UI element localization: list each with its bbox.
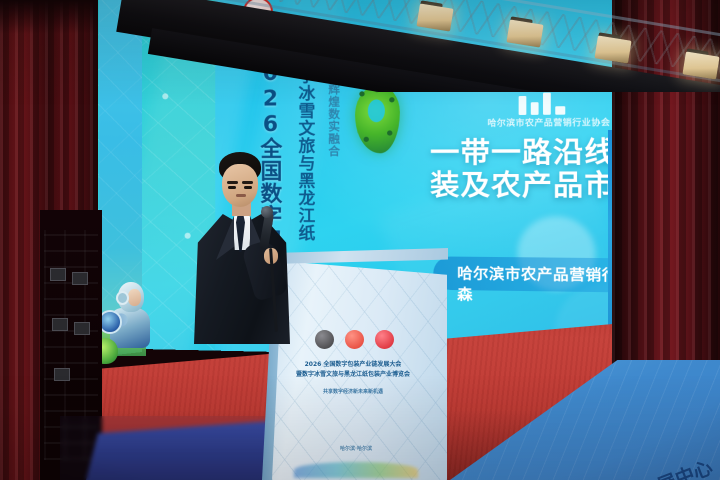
podium-headline-line2: 暨数字冰雪文旅与黑龙江纸包装产业博览会	[288, 370, 418, 380]
microphone-head-icon	[261, 206, 273, 218]
overhead-truss-rig	[0, 0, 720, 92]
podium-small-tag: 哈尔滨·哈尔滨	[302, 445, 410, 452]
podium-logo-row	[298, 328, 410, 350]
robot-illustration-icon	[100, 282, 162, 360]
green-gear-graphic-icon	[355, 85, 400, 154]
podium-footline: 共享数字经济新未来新机遇	[288, 388, 418, 395]
podium-headline-line1: 2026 全国数字包装产业链发展大会	[288, 360, 418, 370]
stage-photo: 2026全国数字包装产业 暨数字冰雪文旅与黑龙江纸 辉煌数实融合 哈尔滨市农产品…	[0, 0, 720, 480]
association-logo-icon	[519, 91, 568, 115]
led-org-caption: 哈尔滨市农产品营销行业协会	[477, 116, 622, 129]
stage-light-2-icon	[506, 19, 543, 47]
person-mouth	[236, 194, 246, 197]
stage-light-1-icon	[416, 3, 453, 31]
podium-logo-2-icon	[345, 330, 364, 349]
person-face	[222, 164, 258, 207]
podium-headline: 2026 全国数字包装产业链发展大会 暨数字冰雪文旅与黑龙江纸包装产业博览会	[288, 360, 418, 379]
podium-rainbow-graphic	[294, 462, 418, 478]
podium-logo-1-icon	[315, 330, 334, 349]
banner-slogan: 辉煌数实融合	[328, 83, 340, 157]
podium-logo-3-icon	[375, 330, 394, 349]
speaker-person	[186, 152, 302, 372]
